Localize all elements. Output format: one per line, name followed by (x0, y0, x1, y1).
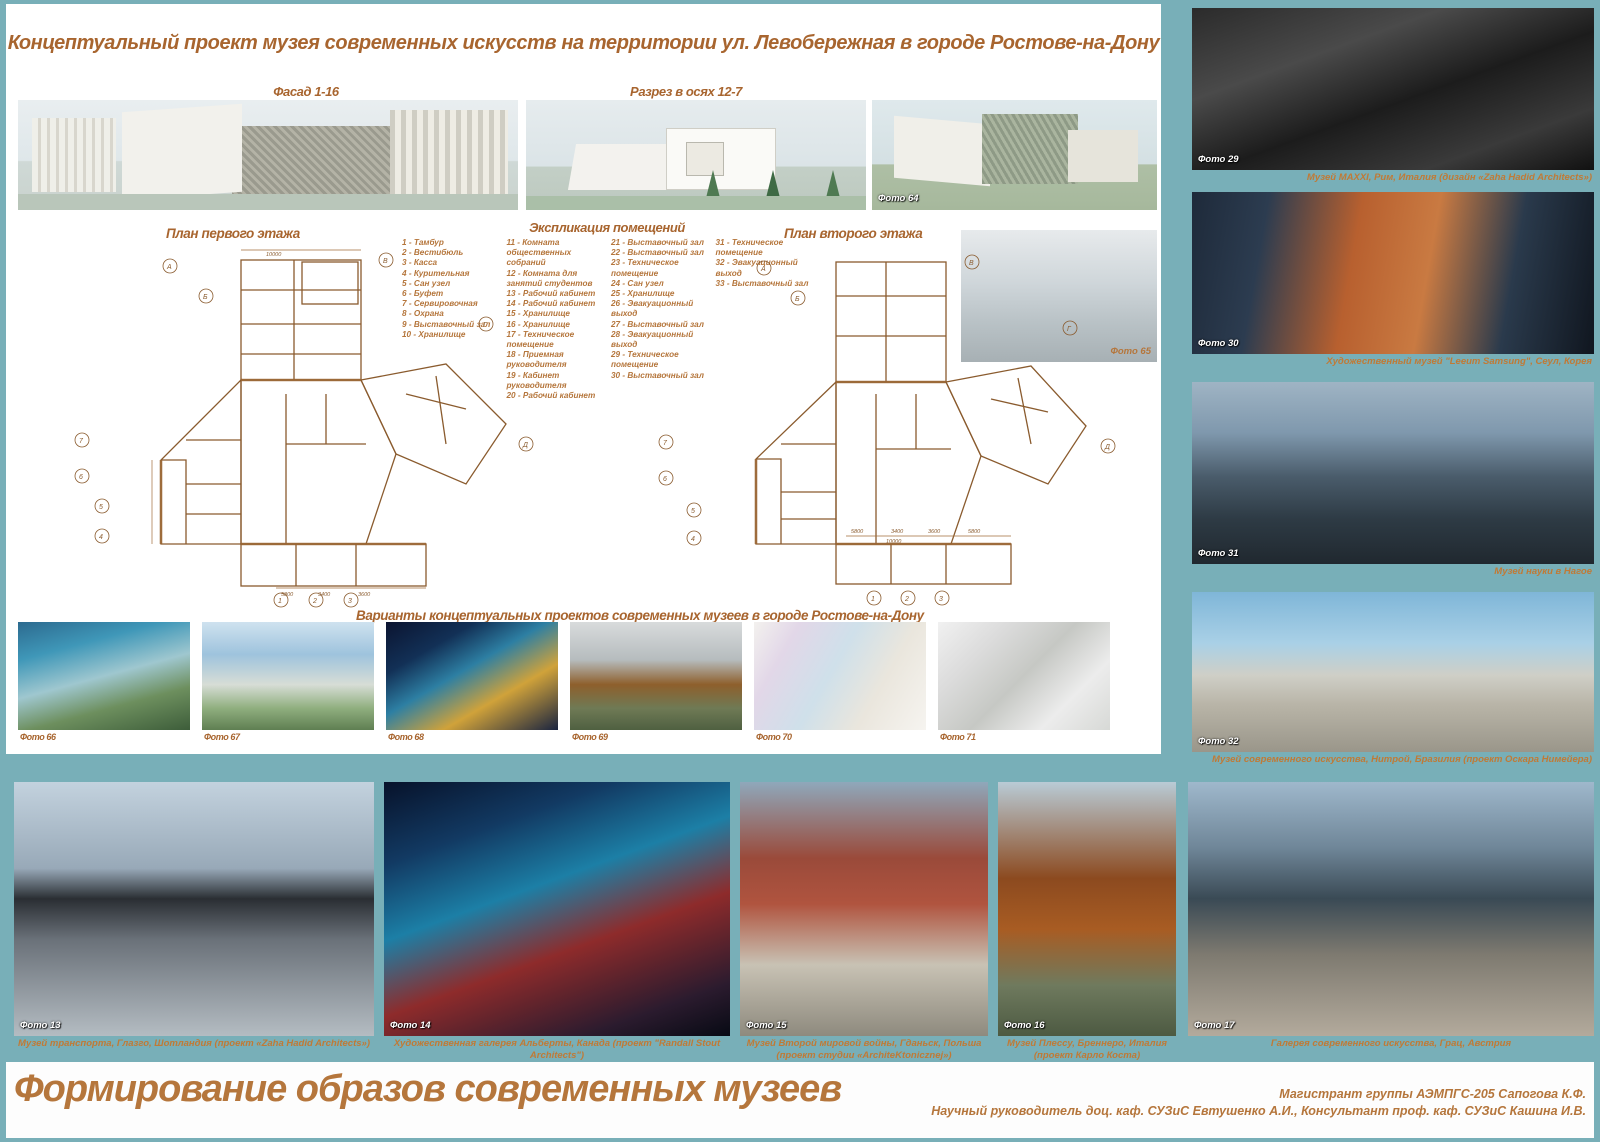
floor-plan-second: 7 6 5 4 A Б В Г Д 1 2 3 580034003 (646, 244, 1126, 614)
sidebar-photo-29: Фото 29 (1192, 8, 1594, 170)
exposition-title: Экспликация помещений (402, 220, 812, 235)
photo-tag-14: Фото 14 (390, 1020, 431, 1031)
svg-text:A: A (166, 264, 172, 271)
photo-tag-65: Фото 65 (1110, 346, 1151, 357)
main-panel: Концептуальный проект музея современных … (6, 4, 1161, 754)
sidebar-photo-31: Фото 31 (1192, 382, 1594, 564)
svg-text:3: 3 (939, 596, 943, 603)
svg-text:2: 2 (312, 598, 317, 605)
svg-text:Б: Б (795, 296, 800, 303)
sidebar-photo-30: Фото 30 (1192, 192, 1594, 354)
bottom-photo-15: Фото 15 (740, 782, 988, 1036)
svg-text:3: 3 (348, 598, 352, 605)
bottom-photo-14: Фото 14 (384, 782, 730, 1036)
render-perspective: Фото 64 (872, 100, 1157, 210)
strip-photo (386, 622, 558, 730)
bottom-caption-17: Галерея современного искусства, Грац, Ав… (1188, 1038, 1594, 1050)
variants-photo-strip: Фото 66 Фото 67 Фото 68 Фото 69 Фото 70 … (18, 622, 1154, 748)
floor-plan-first: 7 6 5 4 A Б В Г Д 1 2 3 (66, 244, 566, 614)
strip-caption: Фото 70 (756, 732, 792, 742)
strip-caption: Фото 67 (204, 732, 240, 742)
svg-text:5800: 5800 (281, 592, 294, 598)
render-facade (18, 100, 518, 210)
photo-tag-30: Фото 30 (1198, 338, 1239, 349)
strip-caption: Фото 71 (940, 732, 976, 742)
bottom-caption-16: Музей Плессу, Бреннеро, Италия (проект К… (994, 1038, 1180, 1062)
photo-tag-13: Фото 13 (20, 1020, 61, 1031)
svg-text:3400: 3400 (318, 592, 331, 598)
strip-photo (754, 622, 926, 730)
photo-tag-17: Фото 17 (1194, 1020, 1235, 1031)
svg-text:3400: 3400 (891, 529, 904, 535)
heading-facade: Фасад 1-16 (176, 84, 436, 99)
svg-text:6: 6 (663, 476, 667, 483)
svg-text:5800: 5800 (851, 529, 864, 535)
footer-credits: Магистрант группы АЭМПГС-205 Сапогова К.… (931, 1086, 1586, 1120)
strip-photo (202, 622, 374, 730)
credits-line-2: Научный руководитель доц. каф. СУЗиС Евт… (931, 1103, 1586, 1120)
page-title: Концептуальный проект музея современных … (6, 32, 1161, 55)
svg-text:Г: Г (483, 322, 488, 329)
sidebar-caption-29: Музей MAXXI, Рим, Италия (дизайн «Zaha H… (1200, 172, 1592, 184)
bottom-caption-15: Музей Второй мировой войны, Гданьск, Пол… (740, 1038, 988, 1062)
svg-text:6: 6 (79, 474, 83, 481)
svg-text:5: 5 (691, 508, 695, 515)
svg-text:3600: 3600 (928, 529, 941, 535)
svg-text:7: 7 (79, 438, 84, 445)
svg-text:Б: Б (203, 294, 208, 301)
svg-text:10000: 10000 (886, 539, 902, 545)
credits-line-1: Магистрант группы АЭМПГС-205 Сапогова К.… (931, 1086, 1586, 1103)
heading-plan-first: План первого этажа (166, 226, 300, 241)
sidebar-caption-30: Художественный музей "Leeum Samsung", Се… (1292, 356, 1592, 368)
svg-text:Г: Г (1067, 326, 1072, 333)
poster-root: Концептуальный проект музея современных … (0, 0, 1600, 1142)
photo-tag-31: Фото 31 (1198, 548, 1239, 559)
bottom-photo-17: Фото 17 (1188, 782, 1594, 1036)
svg-text:Д: Д (522, 442, 528, 449)
photo-tag-29: Фото 29 (1198, 154, 1239, 165)
photo-tag-32: Фото 32 (1198, 736, 1239, 747)
render-section (526, 100, 866, 210)
svg-text:4: 4 (99, 534, 103, 541)
photo-tag-16: Фото 16 (1004, 1020, 1045, 1031)
bottom-caption-14: Художественная галерея Альберты, Канада … (384, 1038, 730, 1062)
svg-text:5: 5 (99, 504, 103, 511)
svg-text:3600: 3600 (358, 592, 371, 598)
bottom-caption-13: Музей транспорта, Глазго, Шотландия (про… (14, 1038, 374, 1050)
svg-text:Д: Д (1104, 444, 1110, 451)
photo-tag-64: Фото 64 (878, 193, 919, 204)
svg-text:1: 1 (871, 596, 875, 603)
strip-caption: Фото 66 (20, 732, 56, 742)
strip-photo (570, 622, 742, 730)
strip-caption: Фото 69 (572, 732, 608, 742)
sidebar-caption-31: Музей науки в Нагое (1200, 566, 1592, 578)
strip-caption: Фото 68 (388, 732, 424, 742)
svg-text:4: 4 (691, 536, 695, 543)
heading-section: Разрез в осях 12-7 (536, 84, 836, 99)
svg-text:10000: 10000 (266, 252, 282, 258)
bottom-photo-16: Фото 16 (998, 782, 1176, 1036)
svg-text:7: 7 (663, 440, 668, 447)
svg-text:В: В (383, 258, 388, 265)
strip-photo (18, 622, 190, 730)
strip-photo (938, 622, 1110, 730)
bottom-photo-13: Фото 13 (14, 782, 374, 1036)
svg-text:A: A (760, 266, 766, 273)
sidebar-caption-32: Музей современного искусства, Нитрой, Бр… (1200, 754, 1592, 766)
svg-text:5800: 5800 (968, 529, 981, 535)
svg-text:В: В (969, 260, 974, 267)
svg-text:1: 1 (278, 598, 282, 605)
photo-tag-15: Фото 15 (746, 1020, 787, 1031)
footer-title: Формирование образов современных музеев (14, 1068, 841, 1111)
sidebar-photo-32: Фото 32 (1192, 592, 1594, 752)
heading-variants: Варианты концептуальных проектов совреме… (356, 608, 924, 623)
svg-text:2: 2 (904, 596, 909, 603)
